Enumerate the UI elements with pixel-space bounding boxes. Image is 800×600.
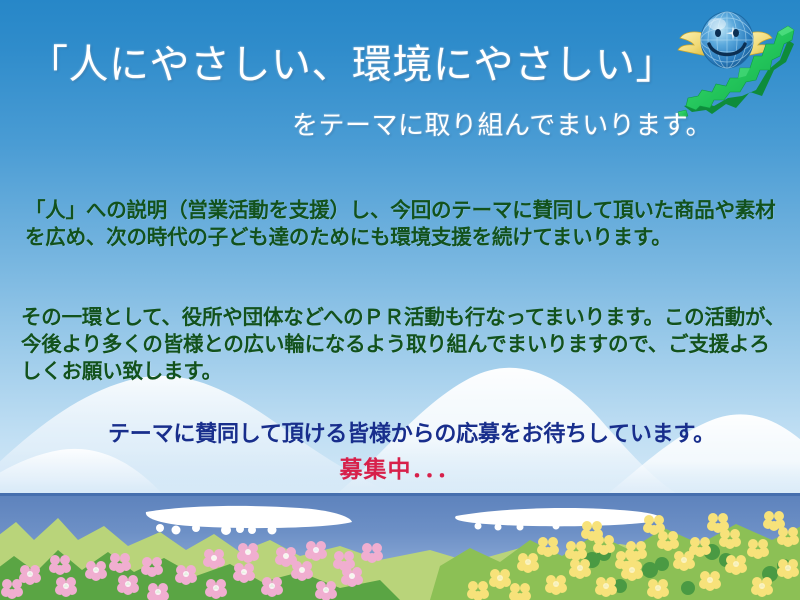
- foreground-meadow: [0, 500, 800, 600]
- slide-subtitle: をテーマに取り組んでまいります。: [292, 110, 712, 141]
- invitation-text: テーマに賛同して頂ける皆様からの応募をお待ちしています。: [108, 420, 748, 448]
- globe-smiley-icon: [701, 12, 753, 68]
- slide-canvas: 「人にやさしい、環境にやさしい」 をテーマに取り組んでまいります。 「人」への説…: [0, 0, 800, 600]
- slide-title: 「人にやさしい、環境にやさしい」: [28, 42, 676, 88]
- company-logo: [676, 0, 798, 118]
- body-paragraph-2: その一環として、役所や団体などへのＰＲ活動も行なってまいります。この活動が、今後…: [21, 305, 787, 386]
- body-paragraph-1: 「人」への説明（営業活動を支援）し、今回のテーマに賛同して頂いた商品や素材を広め…: [25, 198, 785, 252]
- recruiting-badge: 募集中．．．: [0, 450, 800, 484]
